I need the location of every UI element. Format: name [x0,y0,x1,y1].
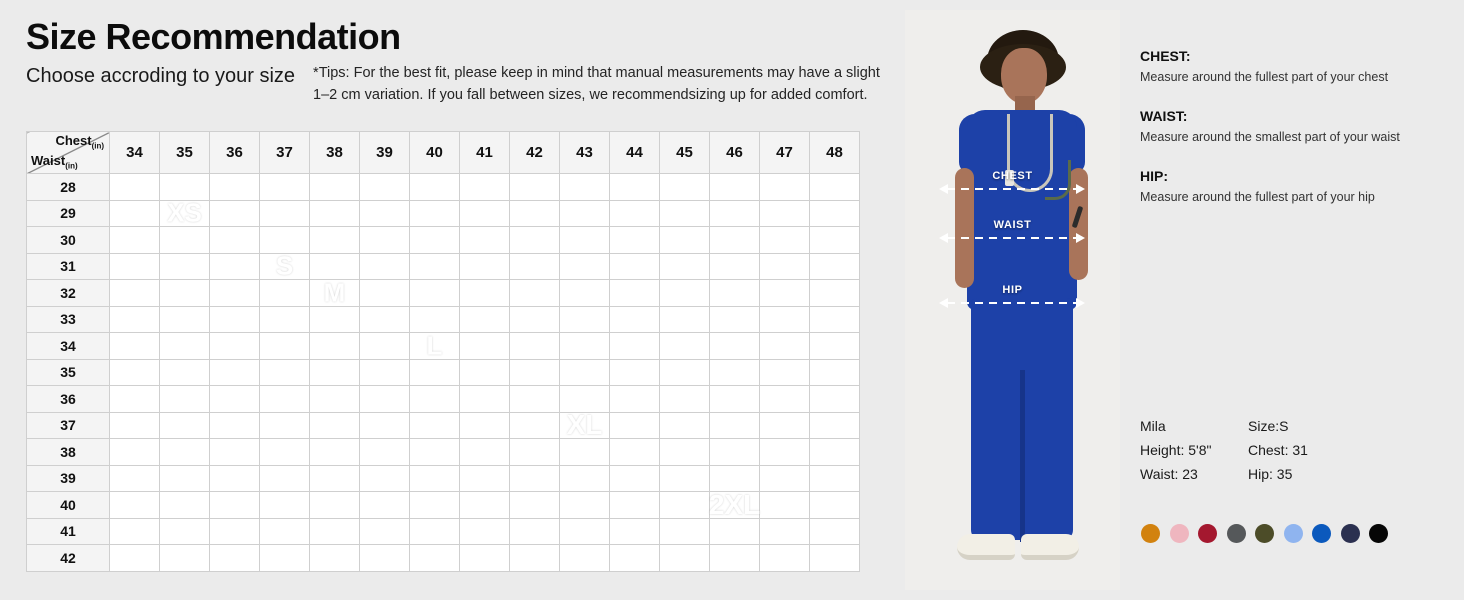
size-cell [610,518,660,545]
size-cell [610,227,660,254]
measurement-info-desc: Measure around the fullest part of your … [1140,189,1450,206]
size-cell [110,359,160,386]
size-cell [410,545,460,572]
color-swatch[interactable] [1255,524,1274,543]
size-cell [710,227,760,254]
size-cell [260,280,310,307]
size-cell [460,174,510,201]
size-cell [660,465,710,492]
size-cell [760,227,810,254]
waist-measure-label: WAIST [905,219,1120,231]
size-cell [410,439,460,466]
size-cell [760,200,810,227]
size-cell [760,306,810,333]
size-cell [360,306,410,333]
size-cell [210,253,260,280]
color-swatch[interactable] [1341,524,1360,543]
color-swatch-list[interactable] [1141,524,1388,543]
size-cell [560,333,610,360]
size-cell [310,412,360,439]
size-cell [210,200,260,227]
size-cell [810,412,860,439]
size-cell [560,253,610,280]
chest-col-header: 41 [460,132,510,174]
size-cell [810,200,860,227]
waist-row-header: 32 [27,280,110,307]
chest-col-header: 43 [560,132,610,174]
model-hip: Hip: 35 [1248,466,1308,482]
chest-col-header: 40 [410,132,460,174]
chest-col-header: 38 [310,132,360,174]
size-cell [360,227,410,254]
page-subtitle: Choose accroding to your size [26,62,295,88]
color-swatch[interactable] [1369,524,1388,543]
size-cell [610,359,660,386]
table-row: 28 [27,174,860,201]
chest-col-header: 39 [360,132,410,174]
size-cell [360,333,410,360]
size-cell [660,200,710,227]
size-cell [760,359,810,386]
table-body: 2829XS3031S32M3334L353637XL3839402XL4142 [27,174,860,572]
size-cell [110,306,160,333]
size-cell [560,280,610,307]
waist-row-header: 30 [27,227,110,254]
waist-axis-label: Waist(in) [31,153,78,171]
size-cell [160,253,210,280]
size-cell [360,359,410,386]
size-cell [110,253,160,280]
size-cell [760,386,810,413]
size-cell [660,306,710,333]
measurement-info-desc: Measure around the smallest part of your… [1140,129,1450,146]
size-cell: XS [160,200,210,227]
measurement-info-item: CHEST:Measure around the fullest part of… [1140,48,1450,86]
size-cell [810,492,860,519]
size-cell [610,386,660,413]
size-cell [460,306,510,333]
waist-row-header: 34 [27,333,110,360]
size-cell [160,412,210,439]
size-cell [160,280,210,307]
size-cell [510,386,560,413]
size-cell [810,227,860,254]
model-info-block: Mila Size:S Height: 5'8" Chest: 31 Waist… [1140,418,1308,482]
size-cell [760,518,810,545]
measurement-info-title: CHEST: [1140,48,1450,64]
size-cell [210,492,260,519]
size-cell [610,439,660,466]
size-cell: L [410,333,460,360]
size-cell [210,465,260,492]
size-cell [310,359,360,386]
size-cell [260,465,310,492]
size-cell [510,200,560,227]
size-cell [660,518,710,545]
size-label-s: S [276,251,293,282]
waist-row-header: 38 [27,439,110,466]
size-cell [810,545,860,572]
chest-measure-label: CHEST [905,170,1120,182]
table-row: 35 [27,359,860,386]
chest-col-header: 42 [510,132,560,174]
size-label-xl: XL [567,409,603,441]
size-cell [410,174,460,201]
size-cell [710,306,760,333]
size-cell [710,280,760,307]
size-cell [760,545,810,572]
chest-col-header: 46 [710,132,760,174]
color-swatch[interactable] [1312,524,1331,543]
size-cell [460,280,510,307]
table-row: 34L [27,333,860,360]
size-cell [260,439,310,466]
size-cell [810,359,860,386]
waist-row-header: 40 [27,492,110,519]
size-cell [610,253,660,280]
size-cell [460,545,510,572]
size-cell [710,174,760,201]
size-cell [610,200,660,227]
waist-row-header: 41 [27,518,110,545]
size-cell [460,386,510,413]
size-cell [610,174,660,201]
size-cell [210,280,260,307]
chest-col-header: 36 [210,132,260,174]
measurement-info-title: WAIST: [1140,108,1450,124]
size-cell [160,518,210,545]
size-cell [710,545,760,572]
size-cell [110,545,160,572]
size-cell [110,412,160,439]
size-cell: M [310,280,360,307]
size-cell [260,227,310,254]
size-cell [310,333,360,360]
table-row: 32M [27,280,860,307]
size-cell [360,545,410,572]
size-label-m: M [324,277,346,308]
size-cell [660,227,710,254]
size-cell [510,333,560,360]
size-cell [410,253,460,280]
size-cell [560,359,610,386]
waist-row-header: 35 [27,359,110,386]
chest-col-header: 34 [110,132,160,174]
waist-row-header: 29 [27,200,110,227]
model-size: Size:S [1248,418,1308,434]
size-cell [510,545,560,572]
size-cell [710,333,760,360]
size-cell [310,439,360,466]
size-cell [560,545,610,572]
size-cell [160,492,210,519]
size-cell [160,465,210,492]
color-swatch[interactable] [1198,524,1217,543]
size-cell [260,545,310,572]
model-leg-seam [1020,370,1025,542]
size-cell [660,492,710,519]
size-chart-container: Chest(in) Waist(in) 34353637383940414243… [26,131,860,572]
size-cell [360,386,410,413]
waist-row-header: 42 [27,545,110,572]
color-swatch[interactable] [1141,524,1160,543]
size-cell [110,386,160,413]
size-cell [510,306,560,333]
size-cell [560,465,610,492]
size-cell [510,518,560,545]
size-cell [310,227,360,254]
table-row: 39 [27,465,860,492]
table-row: 38 [27,439,860,466]
size-cell [810,174,860,201]
size-cell [760,174,810,201]
size-cell [410,386,460,413]
size-cell [660,359,710,386]
size-cell [510,412,560,439]
table-row: 36 [27,386,860,413]
size-cell [510,492,560,519]
size-cell [210,306,260,333]
size-cell [110,227,160,254]
size-cell [660,439,710,466]
table-row: 37XL [27,412,860,439]
size-cell [410,280,460,307]
size-cell [710,200,760,227]
size-cell [260,386,310,413]
size-label-xs: XS [167,198,202,229]
size-cell [760,253,810,280]
size-cell [710,518,760,545]
size-cell [210,174,260,201]
size-cell [260,200,310,227]
size-cell [510,465,560,492]
size-cell [210,412,260,439]
size-cell [360,518,410,545]
size-cell [560,492,610,519]
size-cell [360,492,410,519]
size-cell: S [260,253,310,280]
waist-row-header: 36 [27,386,110,413]
size-cell [660,386,710,413]
chest-col-header: 35 [160,132,210,174]
size-cell [810,465,860,492]
size-cell [560,439,610,466]
size-cell [310,492,360,519]
size-cell [310,200,360,227]
size-cell [410,465,460,492]
table-row: 42 [27,545,860,572]
color-swatch[interactable] [1227,524,1246,543]
waist-row-header: 31 [27,253,110,280]
model-waist: Waist: 23 [1140,466,1248,482]
size-cell [810,386,860,413]
size-cell [810,306,860,333]
size-cell [110,465,160,492]
color-swatch[interactable] [1284,524,1303,543]
model-chest: Chest: 31 [1248,442,1308,458]
size-cell [110,174,160,201]
size-chart-table: Chest(in) Waist(in) 34353637383940414243… [26,131,860,572]
waist-measure-arrow [947,237,1077,239]
table-row: 30 [27,227,860,254]
size-cell [210,545,260,572]
table-header: Chest(in) Waist(in) 34353637383940414243… [27,132,860,174]
size-cell [760,333,810,360]
size-cell [360,412,410,439]
size-cell [510,439,560,466]
size-cell [360,280,410,307]
size-cell [610,280,660,307]
size-cell [610,465,660,492]
table-row: 33 [27,306,860,333]
size-cell [610,306,660,333]
size-cell [110,492,160,519]
size-cell [710,465,760,492]
table-row: 402XL [27,492,860,519]
table-row: 41 [27,518,860,545]
size-cell [610,412,660,439]
size-cell [460,333,510,360]
size-cell [560,200,610,227]
table-row: 29XS [27,200,860,227]
size-cell [760,492,810,519]
size-cell [660,412,710,439]
measurement-guide: CHEST:Measure around the fullest part of… [1140,48,1450,228]
size-cell [410,518,460,545]
size-cell [660,280,710,307]
size-cell [310,253,360,280]
model-shoe-left [957,534,1015,560]
size-cell [160,439,210,466]
size-cell [160,333,210,360]
size-cell [110,518,160,545]
chest-col-header: 37 [260,132,310,174]
size-cell [260,492,310,519]
size-cell [360,439,410,466]
chest-col-header: 47 [760,132,810,174]
size-cell [310,545,360,572]
size-cell [360,200,410,227]
size-cell [760,412,810,439]
size-cell [560,518,610,545]
size-cell [710,253,760,280]
size-cell [810,333,860,360]
model-photo: CHEST WAIST HIP [905,10,1120,590]
size-cell [660,253,710,280]
size-cell [260,412,310,439]
measurement-info-item: WAIST:Measure around the smallest part o… [1140,108,1450,146]
model-shoe-right [1021,534,1079,560]
size-cell [410,492,460,519]
size-cell [710,412,760,439]
size-cell [510,174,560,201]
size-cell [160,174,210,201]
size-cell [610,333,660,360]
size-cell [210,386,260,413]
size-cell [510,227,560,254]
size-cell [460,200,510,227]
size-cell [110,200,160,227]
size-cell [760,280,810,307]
size-cell [710,359,760,386]
color-swatch[interactable] [1170,524,1189,543]
size-cell [360,174,410,201]
size-cell [510,253,560,280]
size-cell [460,412,510,439]
size-cell [660,174,710,201]
size-cell [710,386,760,413]
size-cell [660,545,710,572]
size-cell [110,280,160,307]
measurement-info-title: HIP: [1140,168,1450,184]
size-cell [410,306,460,333]
size-cell [310,306,360,333]
size-cell [210,227,260,254]
size-cell [360,253,410,280]
size-cell [160,227,210,254]
table-row: 31S [27,253,860,280]
tips-text: *Tips: For the best fit, please keep in … [313,62,898,107]
size-cell [160,306,210,333]
measurement-info-desc: Measure around the fullest part of your … [1140,69,1450,86]
size-label-l: L [427,330,443,361]
size-cell [560,306,610,333]
header-row: Chest(in) Waist(in) 34353637383940414243… [27,132,860,174]
size-cell [410,412,460,439]
size-cell [660,333,710,360]
size-cell [260,306,310,333]
size-cell [810,280,860,307]
size-cell [560,174,610,201]
size-cell: XL [560,412,610,439]
chest-col-header: 45 [660,132,710,174]
size-cell [260,518,310,545]
size-cell [460,518,510,545]
size-cell [810,253,860,280]
size-cell [360,465,410,492]
size-cell [460,359,510,386]
size-cell [410,200,460,227]
size-cell [310,174,360,201]
size-cell [810,518,860,545]
hip-measure-label: HIP [905,284,1120,296]
size-cell [160,386,210,413]
waist-row-header: 39 [27,465,110,492]
chest-col-header: 48 [810,132,860,174]
waist-row-header: 28 [27,174,110,201]
size-cell [510,359,560,386]
page-title: Size Recommendation [26,18,956,56]
size-cell [460,492,510,519]
size-cell [110,439,160,466]
size-cell: 2XL [710,492,760,519]
size-cell [460,465,510,492]
size-cell [210,333,260,360]
chest-measure-arrow [947,188,1077,190]
page-header: Size Recommendation Choose accroding to … [26,18,956,107]
chest-axis-label: Chest(in) [55,133,104,151]
axis-corner-cell: Chest(in) Waist(in) [27,132,110,174]
size-cell [460,227,510,254]
size-cell [110,333,160,360]
size-cell [210,359,260,386]
size-cell [260,174,310,201]
size-cell [460,253,510,280]
hip-measure-arrow [947,302,1077,304]
model-height: Height: 5'8" [1140,442,1248,458]
size-cell [560,386,610,413]
model-name: Mila [1140,418,1248,434]
